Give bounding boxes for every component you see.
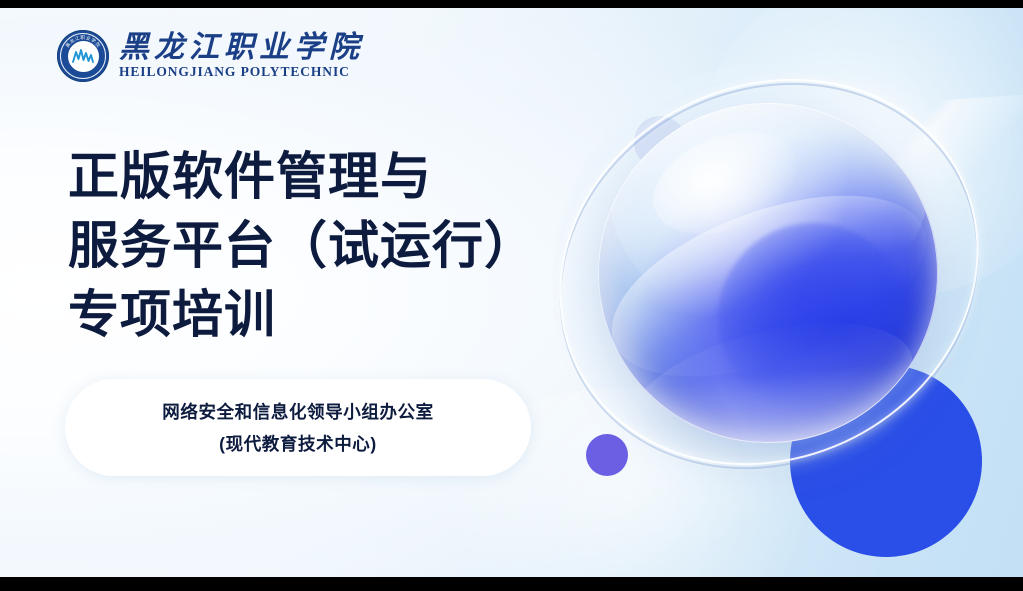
logo-wordmark: 黑龙江职业学院 HEILONGJIANG POLYTECHNIC (119, 32, 364, 80)
presentation-slide: 黑龙江职业学院 HEILONGJIANG POLYTECHNIC 黑龙江职业学院… (0, 0, 1023, 591)
logo-name-en: HEILONGJIANG POLYTECHNIC (119, 65, 364, 80)
letterbox-bottom-bar (0, 577, 1023, 591)
glass-sphere-graphic (598, 103, 938, 443)
subtitle-pill: 网络安全和信息化领导小组办公室 (现代教育技术中心) (65, 379, 531, 476)
subtitle-line-2: (现代教育技术中心) (219, 431, 377, 456)
letterbox-top-bar (0, 0, 1023, 8)
title-line-2: 服务平台（试运行） (68, 211, 536, 280)
title-line-3: 专项培训 (68, 280, 536, 349)
school-seal-icon: 黑龙江职业学院 HEILONGJIANG POLYTECHNIC (57, 30, 109, 82)
subtitle-line-1: 网络安全和信息化领导小组办公室 (162, 399, 434, 424)
seal-center (67, 40, 100, 73)
slide-canvas: 黑龙江职业学院 HEILONGJIANG POLYTECHNIC 黑龙江职业学院… (0, 8, 1023, 577)
slide-title: 正版软件管理与 服务平台（试运行） 专项培训 (68, 142, 536, 349)
institution-logo: 黑龙江职业学院 HEILONGJIANG POLYTECHNIC 黑龙江职业学院… (57, 30, 364, 82)
wave-mountain-icon (71, 48, 95, 64)
logo-name-cn: 黑龙江职业学院 (119, 32, 364, 64)
title-line-1: 正版软件管理与 (68, 142, 536, 211)
